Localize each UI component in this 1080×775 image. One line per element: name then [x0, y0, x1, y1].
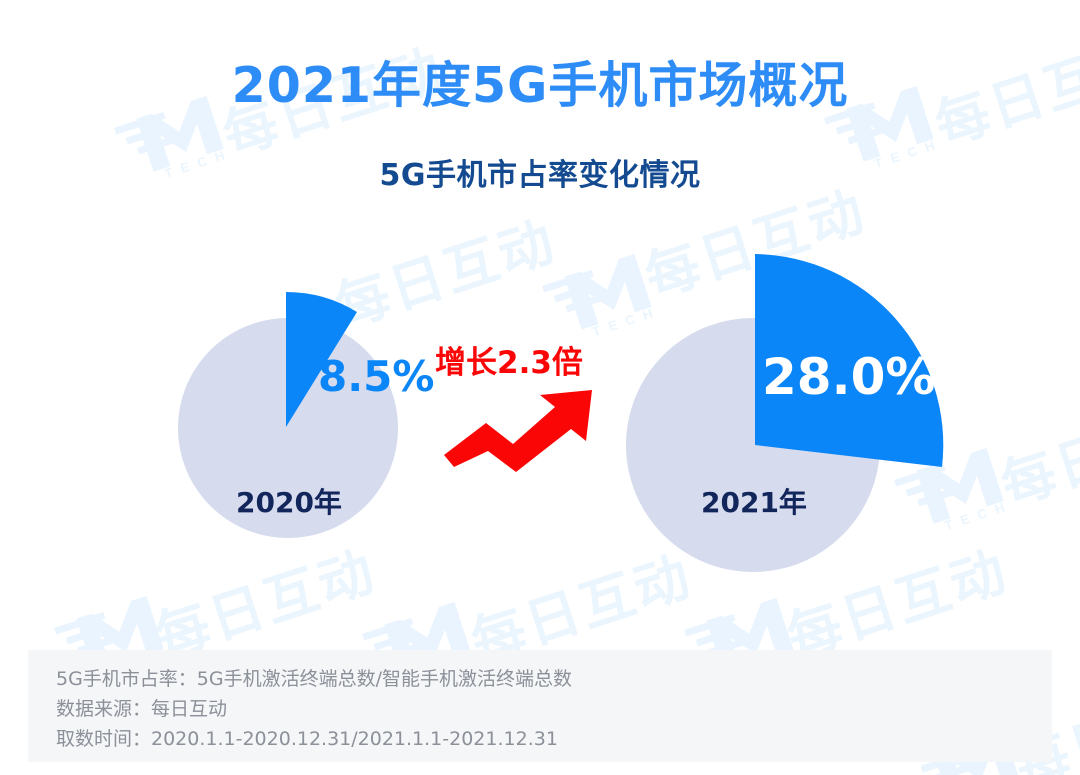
pie-2020-year-label: 2020年 [236, 481, 342, 521]
pie-2021-value-label: 28.0% [762, 348, 935, 406]
infographic-poster: TECH 每日互动 TECH 每日互动 每日互动 每日互动 TECH [0, 0, 1080, 775]
pie-2020-value-label: 8.5% [318, 352, 434, 401]
footnote-line-period: 取数时间：2020.1.1-2020.12.31/2021.1.1-2021.1… [56, 724, 1052, 754]
content-layer: 2021年度5G手机市场概况 5G手机市占率变化情况 8.5% 28.0% 20… [0, 0, 1080, 775]
footnote-line-definition: 5G手机市占率：5G手机激活终端总数/智能手机激活终端总数 [56, 664, 1052, 694]
footnote-panel: 5G手机市占率：5G手机激活终端总数/智能手机激活终端总数 数据来源：每日互动 … [28, 650, 1052, 762]
pie-2021-year-label: 2021年 [701, 481, 807, 521]
trending-up-arrow-icon [440, 383, 608, 473]
growth-callout-label: 增长2.3倍 [435, 337, 583, 382]
footnote-line-source: 数据来源：每日互动 [56, 694, 1052, 724]
